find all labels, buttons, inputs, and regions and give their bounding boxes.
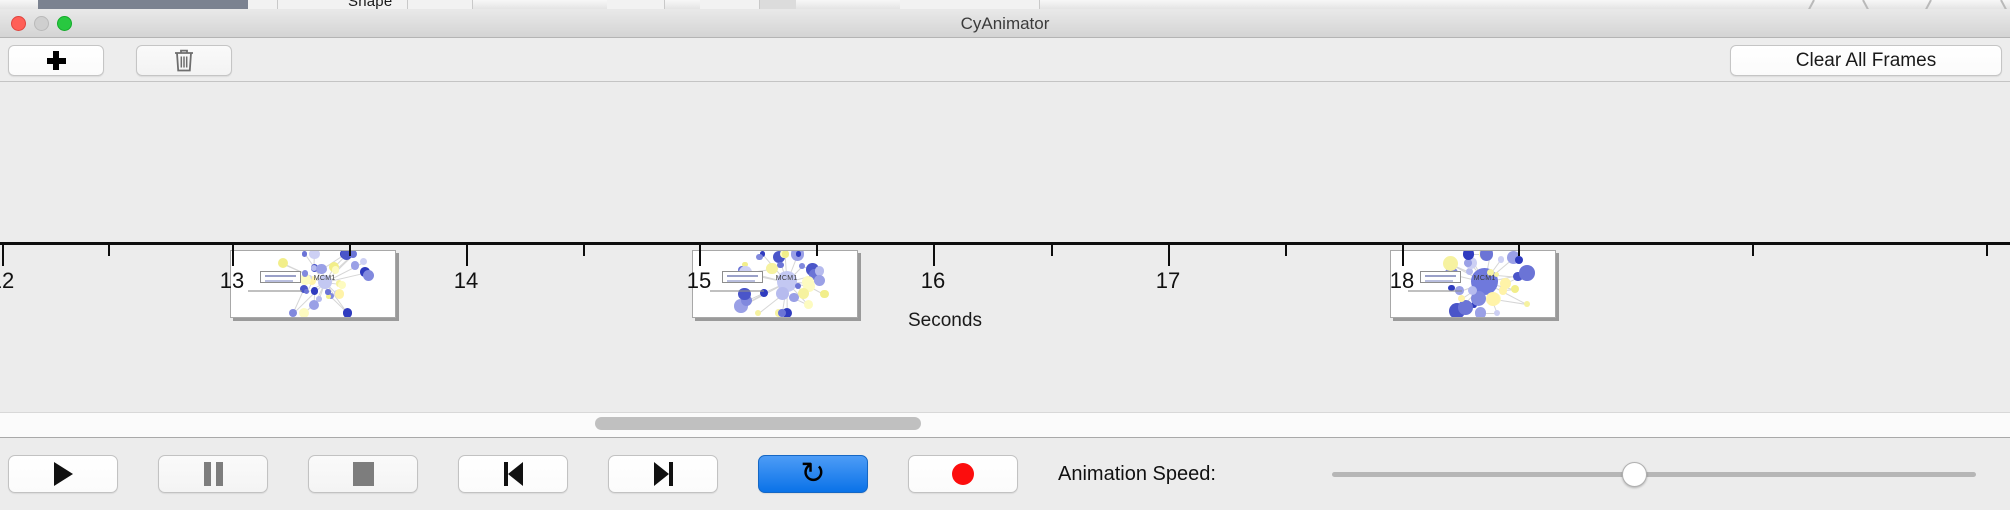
toolbar: Clear All Frames [0, 38, 2010, 82]
background-tab [248, 0, 278, 9]
delete-frame-button[interactable] [136, 45, 232, 76]
axis-tick-label: 17 [1156, 268, 1180, 294]
axis-tick-label: 14 [454, 268, 478, 294]
axis-tick-major [1168, 245, 1170, 266]
animation-speed-slider-track[interactable] [1332, 472, 1976, 477]
timeline-axis: 12131415161718 Seconds [0, 242, 2010, 342]
animation-speed-label: Animation Speed: [1058, 463, 1216, 486]
play-button[interactable] [8, 455, 118, 493]
background-tab [700, 0, 760, 9]
previous-frame-button[interactable] [458, 455, 568, 493]
axis-tick-minor [349, 245, 351, 256]
axis-tick-major [466, 245, 468, 266]
skip-next-icon [654, 462, 673, 486]
background-tab [408, 0, 473, 9]
background-window-label: Shape [348, 0, 392, 9]
loop-icon: ↻ [800, 459, 825, 489]
animation-speed-slider-thumb[interactable] [1622, 462, 1647, 487]
axis-tick-label: 18 [1390, 268, 1414, 294]
axis-tick-label: 15 [687, 268, 711, 294]
frame-thumbnails: MCM1MCM1MCM1 [0, 82, 2010, 248]
axis-tick-minor [583, 245, 585, 256]
axis-tick-minor [1285, 245, 1287, 256]
clear-all-frames-label: Clear All Frames [1796, 50, 1936, 72]
axis-tick-major [2, 245, 4, 266]
axis-title: Seconds [908, 310, 982, 332]
record-icon [952, 463, 974, 485]
stop-button[interactable] [308, 455, 418, 493]
background-selected-tab [38, 0, 248, 9]
trash-icon [173, 48, 195, 73]
axis-tick-minor [1518, 245, 1520, 256]
axis-tick-major [232, 245, 234, 266]
axis-tick-label: 16 [921, 268, 945, 294]
pause-button[interactable] [158, 455, 268, 493]
playback-controls: ↻ Animation Speed: [0, 439, 2010, 510]
axis-line [0, 242, 2010, 245]
background-toolbar-chip [760, 0, 796, 9]
background-diagonal-mark [1862, 0, 1869, 9]
axis-tick-major [933, 245, 935, 266]
add-frame-button[interactable] [8, 45, 104, 76]
skip-previous-icon [504, 462, 523, 486]
axis-tick-minor [1986, 245, 1988, 256]
background-diagonal-mark [1924, 0, 1931, 9]
clear-all-frames-button[interactable]: Clear All Frames [1730, 45, 2002, 76]
axis-tick-label: 12 [0, 268, 14, 294]
axis-tick-minor [1752, 245, 1754, 256]
background-window-strip: Shape [0, 0, 2010, 9]
background-tab [607, 0, 665, 9]
loop-button[interactable]: ↻ [758, 455, 868, 493]
window-title: CyAnimator [0, 9, 2010, 38]
axis-tick-minor [1051, 245, 1053, 256]
play-icon [54, 462, 73, 486]
background-diagonal-mark [1807, 0, 1814, 9]
title-bar[interactable]: CyAnimator [0, 9, 2010, 38]
background-diagonal-mark [2000, 0, 2007, 9]
timeline-scrollbar-thumb[interactable] [595, 417, 921, 430]
cyanimator-window: Shape CyAnimator Clear All Frames [0, 0, 2010, 510]
pause-icon [204, 462, 223, 486]
axis-tick-major [1402, 245, 1404, 266]
stop-icon [353, 462, 374, 486]
timeline-panel[interactable]: MCM1MCM1MCM1 12131415161718 Seconds [0, 82, 2010, 412]
plus-icon [47, 51, 66, 70]
background-tab [900, 0, 1040, 9]
axis-tick-major [699, 245, 701, 266]
axis-tick-minor [108, 245, 110, 256]
next-frame-button[interactable] [608, 455, 718, 493]
axis-tick-minor [816, 245, 818, 256]
timeline-scrollbar-track[interactable] [0, 412, 2010, 438]
record-button[interactable] [908, 455, 1018, 493]
axis-tick-label: 13 [220, 268, 244, 294]
